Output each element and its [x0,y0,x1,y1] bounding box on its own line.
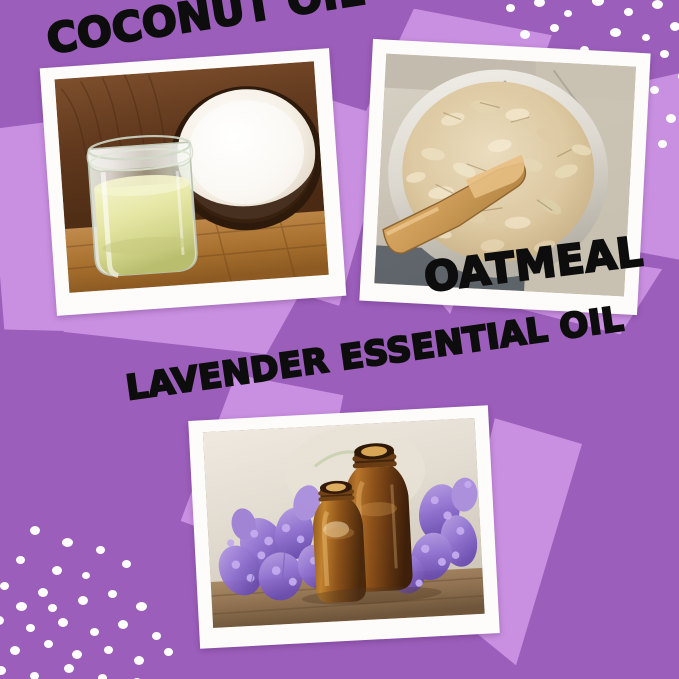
decorative-dot [0,582,9,590]
label-lavender-essential-oil: LAVENDER ESSENTIAL OIL [124,302,626,406]
decorative-dot [658,140,667,148]
decorative-dot [670,22,679,31]
decorative-dot [90,628,99,636]
decorative-dot [592,0,604,6]
decorative-dot [98,674,107,679]
decorative-dot [134,656,144,665]
decorative-dot [62,538,73,547]
decorative-dot [64,664,74,673]
decorative-dot [30,526,40,535]
decorative-dot [48,604,57,612]
decorative-dot [624,8,633,16]
decorative-dot [72,650,82,659]
decorative-dot [650,86,659,94]
decorative-dot [52,566,62,575]
decorative-dot [550,24,559,32]
decorative-dot [164,648,173,656]
decorative-dot [16,602,27,611]
ingredient-collage-poster: COCONUT OIL OATMEAL LAVENDER ESSENTIAL O… [0,0,679,679]
coconut-oil-illustration [55,61,329,293]
decorative-dot [0,616,4,625]
lavender-essential-oil-photo [203,418,485,628]
decorative-dot [38,588,48,597]
decorative-dot [610,28,621,37]
decorative-dot [564,10,572,17]
decorative-dot [16,556,25,564]
decorative-dot [152,632,161,640]
decorative-dot [660,50,669,58]
decorative-dot [666,114,676,123]
decorative-dot [104,646,113,654]
decorative-dot [122,560,131,568]
decorative-dot [78,596,88,605]
decorative-dot [108,590,117,598]
decorative-dot [506,4,515,12]
decorative-dot [30,672,39,679]
decorative-dot [534,0,545,7]
decorative-dot [44,640,53,648]
decorative-dot [58,618,68,627]
decorative-dot [96,546,105,554]
decorative-dot [26,624,35,632]
lavender-oil-illustration [203,418,485,628]
bottom-left-dots [0,520,201,679]
photo-card-lavender-essential-oil [188,405,500,648]
decorative-dot [118,620,128,629]
photo-card-coconut-oil [40,48,347,316]
decorative-dot [652,0,663,9]
coconut-oil-photo [55,61,329,293]
decorative-dot [136,602,147,611]
decorative-dot [642,34,650,41]
decorative-dot [10,646,20,655]
decorative-dot [0,666,6,675]
decorative-dot [520,30,530,39]
decorative-dot [82,572,90,579]
